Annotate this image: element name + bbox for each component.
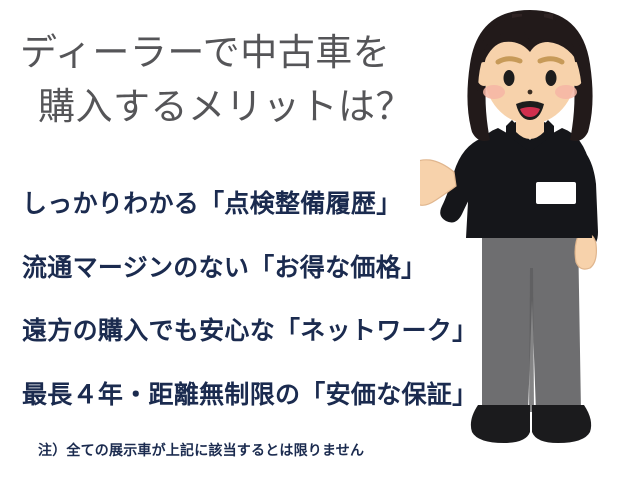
benefit-item-network: 遠方の購入でも安心な「ネットワーク」 [22, 311, 477, 347]
name-badge [536, 182, 576, 204]
nose [528, 90, 533, 95]
benefit-item-warranty: 最長４年・距離無制限の「安価な保証」 [22, 375, 477, 411]
staff-illustration [420, 0, 640, 480]
page-title: ディーラーで中古車を 購入するメリットは？ [20, 26, 440, 134]
pants-shape [482, 230, 581, 412]
page-title-line-2: 購入するメリットは？ [20, 80, 440, 134]
page-title-line-1: ディーラーで中古車を [20, 26, 440, 80]
promo-graphic-canvas: ディーラーで中古車を 購入するメリットは？ しっかりわかる「点検整備履歴」 流通… [0, 0, 640, 480]
footnote-disclaimer: 注）全ての展示車が上記に該当するとは限りません [38, 440, 364, 460]
benefit-item-good-price: 流通マージンのない「お得な価格」 [22, 248, 426, 284]
benefit-item-inspection-history: しっかりわかる「点検整備履歴」 [22, 184, 402, 220]
